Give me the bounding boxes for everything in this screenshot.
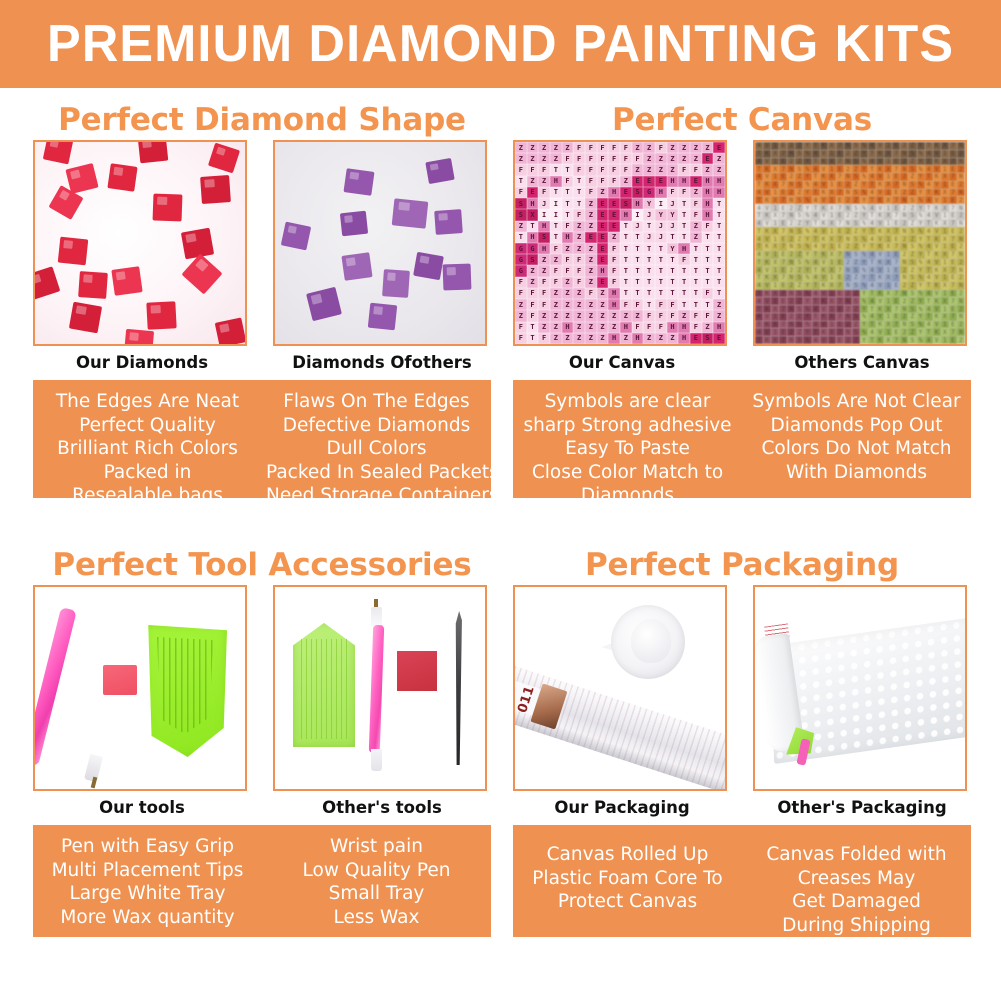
bullets-tools: Pen with Easy Grip Multi Placement Tips … [33,825,491,937]
canvas-symbol-cell: N [844,282,852,290]
canvas-symbol-cell: T [812,313,820,321]
canvas-symbol-cell: H [608,333,620,344]
canvas-symbol-cell: H [550,176,562,187]
canvas-symbol-cell: S [852,189,860,197]
canvas-symbol-cell: V [933,243,941,251]
canvas-symbol-cell: % [917,305,925,313]
canvas-symbol-cell: X [941,266,949,274]
diamond-drill [215,317,247,346]
canvas-symbol-cell: F [608,243,620,254]
canvas-symbol-cell: S [852,220,860,228]
canvas-symbol-cell: E [949,259,957,267]
canvas-symbol-cell: K [763,290,771,298]
canvas-symbol-cell: T [632,265,644,276]
canvas-symbol-cell: Z [515,310,527,321]
canvas-symbol-cell: Z [597,322,609,333]
canvas-symbol-cell: T [550,187,562,198]
canvas-symbol-cell: K [876,181,884,189]
canvas-symbol-cell: T [527,333,539,344]
canvas-symbol-cell: 2 [900,266,908,274]
canvas-symbol-cell: 4 [925,305,933,313]
canvas-symbol-cell: H [678,333,690,344]
canvas-symbol-cell: F [678,187,690,198]
canvas-symbol-cell: T [550,221,562,232]
canvas-symbol-cell: Z [908,328,916,336]
canvas-symbol-cell: 2 [787,220,795,228]
card-other-tools: Other's tools [273,585,491,825]
canvas-symbol-cell: 4 [925,290,933,298]
bullet-line: Symbols Are Not Clear [746,390,967,414]
canvas-symbol-cell: T [678,299,690,310]
canvas-symbol-cell: F [620,299,632,310]
canvas-symbol-cell: 1 [941,165,949,173]
bullet-line: Need Storage Containers [266,484,487,508]
canvas-symbol-cell: X [884,243,892,251]
canvas-symbol-cell: % [917,243,925,251]
caption-our-packaging: Our Packaging [513,791,731,825]
canvas-symbol-cell: Z [538,265,550,276]
canvas-symbol-cell: H [713,176,725,187]
canvas-symbol-cell: K [876,150,884,158]
canvas-symbol-cell: 4 [868,189,876,197]
canvas-symbol-cell: Z [550,310,562,321]
canvas-symbol-cell: Z [562,243,574,254]
caption-other-diamonds: Diamonds Ofothers [273,346,491,380]
canvas-symbol-cell: V [820,150,828,158]
canvas-symbol-cell: Z [585,322,597,333]
canvas-symbol-cell: T [620,232,632,243]
diamond-drill [443,264,472,291]
canvas-symbol-cell: T [643,265,655,276]
canvas-symbol-cell: 4 [812,212,820,220]
canvas-symbol-cell: V [763,142,771,150]
bullet-line: Diamonds [517,484,738,508]
canvas-symbol-cell: Y [643,198,655,209]
canvas-symbol-cell: T [620,288,632,299]
canvas-symbol-cell: 7 [779,212,787,220]
canvas-symbol-cell: X [771,336,779,344]
canvas-symbol-cell: 7 [949,158,957,166]
canvas-symbol-cell: F [632,322,644,333]
canvas-symbol-cell: J [667,198,679,209]
canvas-symbol-cell: 7 [779,274,787,282]
canvas-symbol-cell: F [690,198,702,209]
canvas-symbol-cell: S [908,321,916,329]
canvas-symbol-cell: V [876,173,884,181]
canvas-symbol-cell: T [678,277,690,288]
canvas-symbol-cell: Z [702,142,714,153]
pink-pen-wax-green-tray-photo [33,585,247,791]
diamond-drill [392,198,429,228]
canvas-symbol-cell: N [900,165,908,173]
canvas-symbol-cell: V [933,290,941,298]
canvas-symbol-cell: V [763,173,771,181]
canvas-symbol-cell: F [515,187,527,198]
canvas-symbol-cell: 2 [957,336,965,344]
canvas-symbol-cell: F [655,299,667,310]
canvas-symbol-cell: Z [573,221,585,232]
canvas-symbol-cell: T [690,243,702,254]
canvas-symbol-cell: K [933,204,941,212]
card-pair-diamond-shape: Our Diamonds Diamonds Ofothers [33,140,491,380]
canvas-symbol-cell: Z [795,313,803,321]
section-packaging: Perfect Packaging S-011 Our Packaging [513,545,971,937]
canvas-symbol-cell: E [779,204,787,212]
canvas-symbol-cell: Y [860,227,868,235]
section-title-packaging: Perfect Packaging [513,545,971,585]
bullet-line: Get Damaged [746,890,967,914]
canvas-symbol-cell: T [925,158,933,166]
canvas-symbol-cell: Y [803,313,811,321]
canvas-symbol-cell: X [828,313,836,321]
canvas-symbol-cell: 4 [755,251,763,259]
canvas-symbol-cell: V [933,212,941,220]
canvas-symbol-cell: X [828,282,836,290]
canvas-symbol-cell: 4 [925,150,933,158]
blurry-multicolor-grid-canvas-photo: 4V1E2ZYTKX7NS%4V1E2ZYTKX7NTKX7NS%4V1E2ZY… [753,140,967,346]
bullet-line: sharp Strong adhesive [517,414,738,438]
bullet-line: The Edges Are Neat [37,390,258,414]
canvas-symbol-cell: Z [908,142,916,150]
canvas-symbol-cell: % [917,321,925,329]
canvas-symbol-cell: T [690,288,702,299]
canvas-symbol-cell: 4 [868,158,876,166]
canvas-symbol-cell: E [892,189,900,197]
bullets-others: Symbols Are Not Clear Diamonds Pop Out C… [742,390,971,486]
section-tool-accessories: Perfect Tool Accessories Our tools [33,545,491,937]
canvas-symbol-cell: 4 [812,227,820,235]
canvas-symbol-cell: 7 [892,181,900,189]
canvas-symbol-cell: T [690,254,702,265]
card-pair-canvas: ZZZZZFFFFFZZFZZZZEZZZZFFFFFFFZZZZZEZFFFT… [513,140,971,380]
canvas-symbol-cell: 4 [925,243,933,251]
canvas-symbol-cell: K [820,158,828,166]
canvas-symbol-cell: T [925,282,933,290]
canvas-symbol-cell: F [538,299,550,310]
canvas-symbol-cell: % [803,243,811,251]
canvas-symbol-cell: K [876,305,884,313]
card-other-diamonds: Diamonds Ofothers [273,140,491,380]
canvas-symbol-cell: T [655,288,667,299]
canvas-symbol-cell: Z [852,274,860,282]
canvas-symbol-cell: K [763,150,771,158]
canvas-symbol-cell: Z [538,176,550,187]
canvas-symbol-cell: Z [795,220,803,228]
canvas-symbol-cell: X [828,251,836,259]
canvas-symbol-cell: 4 [755,220,763,228]
canvas-symbol-cell: V [763,220,771,228]
canvas-symbol-cell: 7 [949,235,957,243]
canvas-symbol-cell: S [908,212,916,220]
canvas-symbol-cell: V [763,313,771,321]
canvas-symbol-cell: T [643,288,655,299]
canvas-symbol-cell: 7 [779,227,787,235]
canvas-symbol-cell: N [900,243,908,251]
canvas-symbol-cell: T [643,221,655,232]
canvas-symbol-cell: H [608,187,620,198]
canvas-symbol-cell: 7 [892,274,900,282]
canvas-symbol-cell: Z [852,196,860,204]
canvas-symbol-cell: 4 [812,243,820,251]
canvas-symbol-cell: Y [860,305,868,313]
canvas-symbol-cell: X [828,204,836,212]
canvas-symbol-cell: E [655,176,667,187]
canvas-symbol-cell: T [868,274,876,282]
wax-square [103,665,137,695]
canvas-symbol-cell: Y [917,189,925,197]
canvas-symbol-cell: 7 [949,220,957,228]
canvas-symbol-cell: 2 [900,142,908,150]
caption-our-tools: Our tools [33,791,251,825]
canvas-symbol-cell: V [763,204,771,212]
canvas-symbol-cell: S [795,305,803,313]
canvas-symbol-cell: 1 [884,204,892,212]
canvas-symbol-cell: T [755,150,763,158]
canvas-symbol-cell: X [527,209,539,220]
canvas-symbol-cell: N [844,158,852,166]
canvas-symbol-cell: Z [908,266,916,274]
canvas-symbol-cell: 2 [957,243,965,251]
canvas-symbol-cell: 2 [787,142,795,150]
canvas-symbol-cell: % [860,142,868,150]
canvas-symbol-cell: N [787,227,795,235]
canvas-symbol-cell: F [573,153,585,164]
canvas-symbol-cell: Y [860,181,868,189]
canvas-symbol-cell: T [812,266,820,274]
canvas-symbol-cell: % [803,305,811,313]
canvas-symbol-cell: Y [917,313,925,321]
bullets-ours: The Edges Are Neat Perfect Quality Brill… [33,390,262,486]
canvas-symbol-cell: X [828,297,836,305]
canvas-symbol-cell: S [852,142,860,150]
canvas-symbol-cell: T [925,220,933,228]
canvas-symbol-cell: T [925,204,933,212]
canvas-symbol-cell: V [820,290,828,298]
canvas-symbol-cell: K [876,165,884,173]
canvas-symbol-cell: F [527,288,539,299]
bullet-line: Packed In Sealed Packets [266,461,487,485]
canvas-symbol-cell: N [957,297,965,305]
canvas-symbol-cell: F [597,142,609,153]
canvas-symbol-cell: Y [860,321,868,329]
canvas-symbol-cell: Y [803,173,811,181]
canvas-symbol-cell: Z [713,299,725,310]
canvas-symbol-cell: F [678,254,690,265]
canvas-symbol-cell: N [957,313,965,321]
canvas-symbol-cell: J [667,221,679,232]
bullet-line: Close Color Match to [517,461,738,485]
section-canvas: Perfect Canvas ZZZZZFFFFFZZFZZZZEZZZZFFF… [513,100,971,498]
canvas-symbol-cell: K [933,313,941,321]
canvas-symbol-cell: F [527,299,539,310]
canvas-symbol-cell: 1 [828,212,836,220]
section-title-tool-accessories: Perfect Tool Accessories [33,545,491,585]
canvas-symbol-cell: % [860,235,868,243]
canvas-symbol-cell: 4 [755,189,763,197]
canvas-symbol-cell: 2 [957,181,965,189]
canvas-symbol-cell: 2 [787,282,795,290]
canvas-symbol-cell: K [763,305,771,313]
canvas-symbol-cell: 7 [892,165,900,173]
canvas-symbol-cell: H [620,209,632,220]
canvas-symbol-cell: T [925,328,933,336]
canvas-symbol-cell: T [713,232,725,243]
canvas-symbol-cell: H [562,322,574,333]
bullets-diamond-shape: The Edges Are Neat Perfect Quality Brill… [33,380,491,498]
canvas-symbol-cell: K [933,220,941,228]
caption-our-diamonds: Our Diamonds [33,346,251,380]
canvas-symbol-cell: E [779,189,787,197]
canvas-symbol-cell: 7 [779,259,787,267]
canvas-symbol-cell: T [655,243,667,254]
canvas-symbol-cell: Z [713,164,725,175]
canvas-symbol-cell: Z [597,333,609,344]
canvas-symbol-cell: 7 [836,297,844,305]
canvas-symbol-cell: V [933,196,941,204]
canvas-symbol-cell: J [655,221,667,232]
canvas-symbol-cell: V [933,305,941,313]
canvas-symbol-cell: 4 [925,181,933,189]
canvas-symbol-cell: N [957,189,965,197]
canvas-symbol-cell: N [844,251,852,259]
canvas-symbol-cell: 1 [884,297,892,305]
canvas-symbol-cell: T [667,277,679,288]
canvas-symbol-cell: Z [632,142,644,153]
canvas-symbol-cell: N [957,158,965,166]
bullet-line: Canvas Rolled Up [517,843,738,867]
canvas-symbol-cell: X [884,274,892,282]
canvas-symbol-cell: % [917,259,925,267]
header-banner: PREMIUM DIAMOND PAINTING KITS [0,0,1001,88]
canvas-symbol-cell: T [678,288,690,299]
canvas-symbol-cell: E [779,235,787,243]
canvas-symbol-cell: 7 [949,266,957,274]
canvas-symbol-cell: 1 [771,158,779,166]
canvas-symbol-cell: F [655,310,667,321]
bullets-canvas: Symbols are clear sharp Strong adhesive … [513,380,971,498]
canvas-symbol-cell: F [585,153,597,164]
canvas-symbol-cell: Z [908,220,916,228]
canvas-symbol-cell: 4 [755,204,763,212]
canvas-symbol-cell: 1 [941,196,949,204]
canvas-symbol-cell: S [852,313,860,321]
canvas-symbol-cell: 2 [844,196,852,204]
canvas-symbol-cell: T [755,165,763,173]
canvas-symbol-cell: T [812,235,820,243]
canvas-symbol-cell: K [763,243,771,251]
canvas-symbol-cell: S [908,181,916,189]
canvas-symbol-cell: Z [852,305,860,313]
canvas-symbol-cell: X [884,150,892,158]
canvas-symbol-cell: Z [795,235,803,243]
canvas-symbol-cell: 7 [949,313,957,321]
canvas-symbol-cell: V [933,150,941,158]
canvas-symbol-cell: H [620,322,632,333]
canvas-symbol-cell: 2 [957,150,965,158]
canvas-symbol-cell: T [562,198,574,209]
canvas-symbol-cell: S [852,251,860,259]
canvas-symbol-cell: 2 [787,251,795,259]
canvas-symbol-cell: 1 [941,150,949,158]
canvas-symbol-cell: 4 [755,297,763,305]
canvas-symbol-cell: 2 [787,204,795,212]
canvas-symbol-cell: X [828,220,836,228]
canvas-symbol-cell: 4 [812,321,820,329]
canvas-symbol-cell: F [608,265,620,276]
canvas-symbol-cell: V [820,259,828,267]
canvas-symbol-cell: T [620,277,632,288]
canvas-symbol-cell: F [655,142,667,153]
canvas-symbol-cell: N [844,173,852,181]
canvas-symbol-cell: 1 [771,297,779,305]
canvas-symbol-cell: T [690,299,702,310]
canvas-symbol-cell: T [515,176,527,187]
canvas-symbol-cell: Z [852,290,860,298]
canvas-symbol-cell: Z [690,187,702,198]
canvas-symbol-cell: T [812,251,820,259]
canvas-symbol-cell: Z [852,181,860,189]
canvas-symbol-cell: V [820,243,828,251]
blur-layer: 4V1E2ZYTKX7NS%4V1E2ZYTKX7NTKX7NS%4V1E2ZY… [755,142,965,344]
canvas-symbol-cell: T [655,254,667,265]
canvas-symbol-cell: 2 [787,189,795,197]
canvas-symbol-cell: 4 [868,282,876,290]
canvas-symbol-cell: F [538,288,550,299]
canvas-symbol-cell: E [836,181,844,189]
canvas-symbol-cell: 4 [755,266,763,274]
canvas-symbol-cell: V [933,181,941,189]
canvas-symbol-cell: T [643,243,655,254]
canvas-symbol-cell: F [597,153,609,164]
bullet-line: With Diamonds [746,461,967,485]
canvas-symbol-cell: 7 [892,212,900,220]
canvas-symbol-cell: 1 [941,212,949,220]
canvas-symbol-cell: H [678,243,690,254]
canvas-symbol-cell: Z [562,299,574,310]
canvas-symbol-cell: X [771,227,779,235]
canvas-symbol-cell: 1 [771,142,779,150]
canvas-symbol-cell: Z [550,153,562,164]
canvas-symbol-cell: N [957,266,965,274]
diamond-drill [413,252,444,280]
canvas-symbol-cell: T [620,243,632,254]
canvas-symbol-cell: N [844,142,852,150]
canvas-symbol-cell: Z [852,243,860,251]
canvas-symbol-cell: Z [515,142,527,153]
canvas-symbol-cell: X [771,165,779,173]
canvas-symbol-cell: V [876,282,884,290]
diamond-drill [107,163,137,192]
canvas-symbol-cell: S [852,173,860,181]
canvas-symbol-cell: % [917,274,925,282]
canvas-symbol-cell: K [820,266,828,274]
diamond-drill [368,303,397,331]
canvas-symbol-cell: Z [908,173,916,181]
canvas-symbol-cell: T [868,212,876,220]
canvas-symbol-cell: T [755,321,763,329]
canvas-symbol-cell: E [892,204,900,212]
canvas-symbol-cell: T [755,336,763,344]
canvas-symbol-cell: F [585,164,597,175]
canvas-symbol-cell: T [702,254,714,265]
bullets-ours: Canvas Rolled Up Plastic Foam Core To Pr… [513,843,742,925]
canvas-symbol-cell: Y [860,259,868,267]
canvas-symbol-cell: 7 [779,165,787,173]
canvas-symbol-cell: I [538,209,550,220]
canvas-symbol-cell: 7 [779,336,787,344]
canvas-symbol-cell: F [562,176,574,187]
canvas-symbol-cell: F [608,142,620,153]
